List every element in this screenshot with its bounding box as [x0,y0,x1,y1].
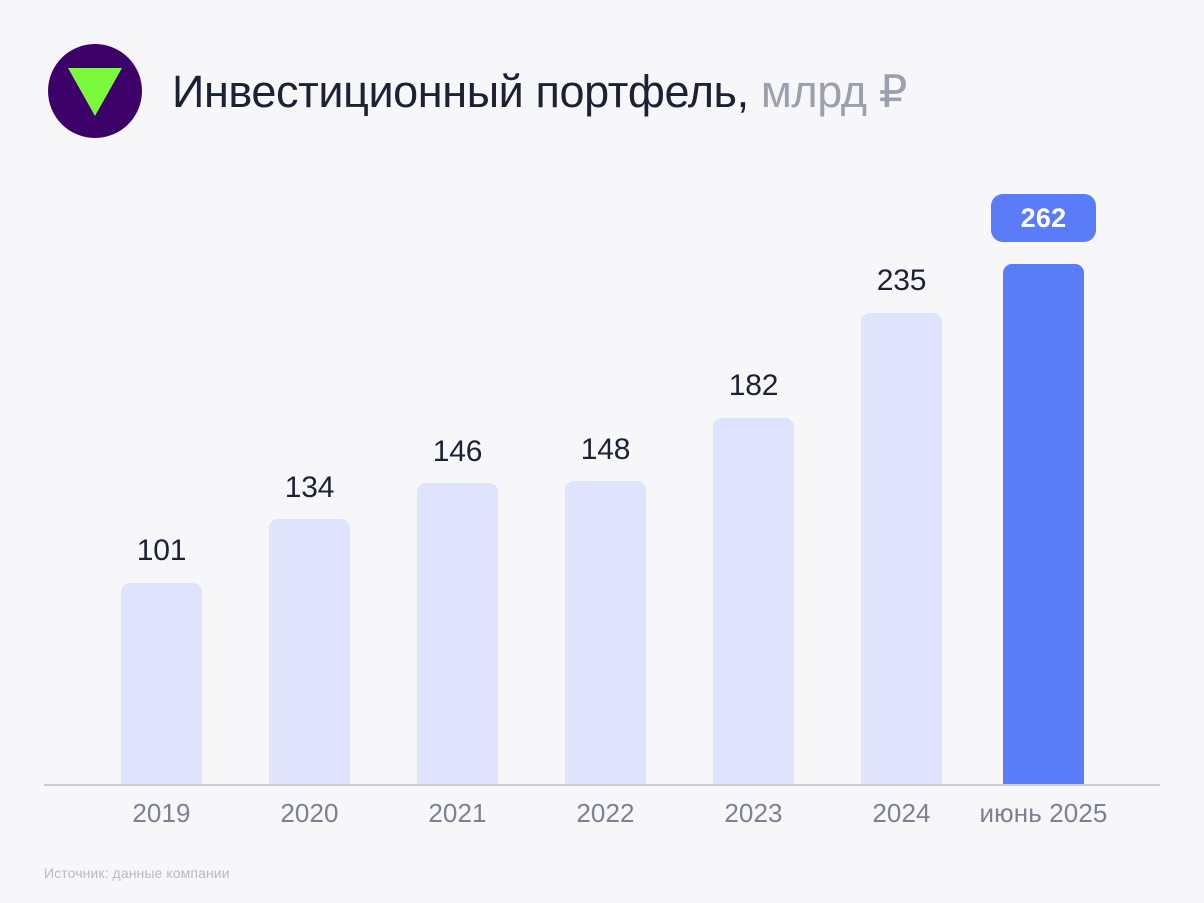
bar-value-2023: 182 [713,371,794,401]
bar-2023[interactable] [713,418,794,784]
category-label-2024: 2024 [861,800,942,826]
category-label-2020: 2020 [269,800,350,826]
bar-value-2020: 134 [269,473,350,503]
bar-2022[interactable] [565,481,646,784]
category-label-2023: 2023 [713,800,794,826]
bar-2020[interactable] [269,519,350,784]
bar-2019[interactable] [121,583,202,784]
category-label-2021: 2021 [417,800,498,826]
bar-value-2019: 101 [121,536,202,566]
category-label-2022: 2022 [565,800,646,826]
bar-value-2024: 235 [861,266,942,296]
x-axis-line [44,784,1160,786]
bar-2021[interactable] [417,483,498,784]
category-label-june-2025: июнь 2025 [968,800,1119,826]
bar-2024[interactable] [861,313,942,784]
bar-june-2025[interactable] [1003,264,1084,784]
bar-chart: 101 2019 134 2020 146 2021 148 2022 182 … [0,0,1204,903]
category-label-2019: 2019 [121,800,202,826]
bar-value-2021: 146 [417,437,498,467]
bar-value-badge-june-2025: 262 [991,194,1096,242]
bar-value-2022: 148 [565,435,646,465]
source-note: Источник: данные компании [44,865,230,881]
